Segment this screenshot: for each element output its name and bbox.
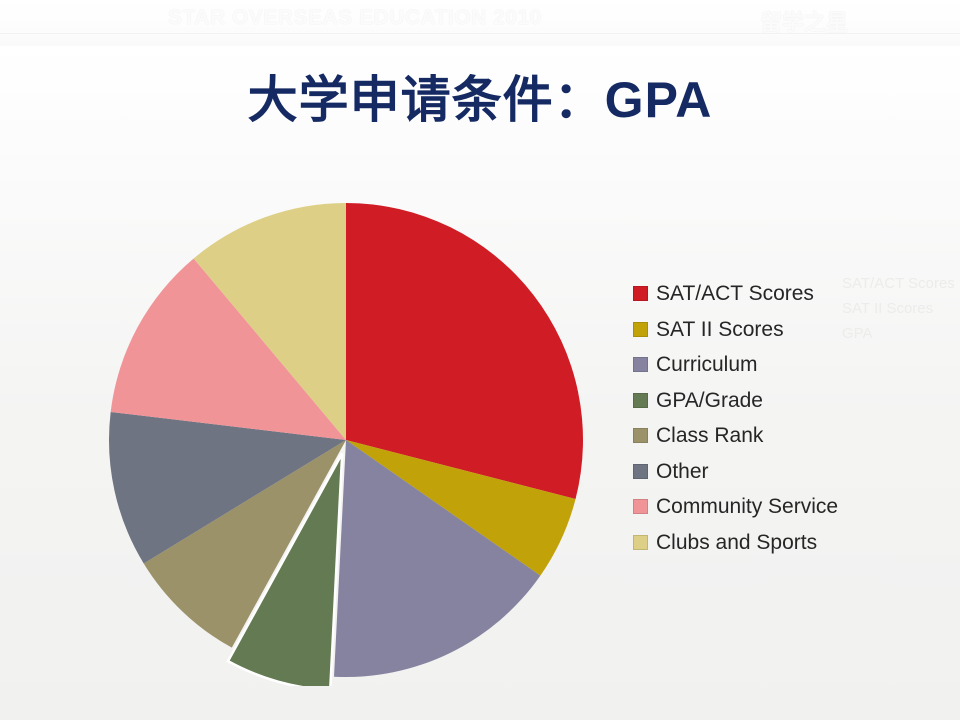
legend-item-curriculum[interactable]: Curriculum	[633, 347, 913, 383]
legend-label-gpa-grade: GPA/Grade	[656, 390, 763, 411]
ghost-text-line-1: SAT/ACT Scores	[842, 275, 955, 292]
page-title-chinese: 大学申请条件：	[248, 72, 605, 128]
ghost-text-line-2: SAT II Scores	[842, 300, 933, 317]
legend-swatch-class-rank	[633, 428, 648, 443]
legend-item-clubs-and-sports[interactable]: Clubs and Sports	[633, 525, 913, 561]
pie-chart: SAT/ACT Scores SAT II Scores Curriculum …	[20, 150, 940, 710]
page-title-latin: GPA	[605, 72, 713, 128]
legend-swatch-curriculum	[633, 357, 648, 372]
page-title: 大学申请条件：GPA	[0, 60, 960, 132]
legend-label-other: Other	[656, 461, 709, 482]
legend-label-class-rank: Class Rank	[656, 425, 763, 446]
legend-swatch-other	[633, 464, 648, 479]
banner-title-chinese: 留学之星	[760, 5, 848, 37]
legend-item-other[interactable]: Other	[633, 454, 913, 490]
legend-label-sat-act-scores: SAT/ACT Scores	[656, 283, 814, 304]
pie-svg	[89, 166, 609, 686]
ghost-text-line-3: GPA	[842, 325, 873, 342]
legend-item-class-rank[interactable]: Class Rank	[633, 418, 913, 454]
top-banner: STAR OVERSEAS EDUCATION 2010 留学之星	[0, 0, 960, 46]
legend-label-community-service: Community Service	[656, 496, 838, 517]
chart-legend: SAT/ACT Scores SAT II Scores Curriculum …	[633, 276, 913, 560]
banner-title: STAR OVERSEAS EDUCATION 2010	[168, 6, 542, 30]
legend-swatch-gpa-grade	[633, 393, 648, 408]
legend-item-gpa-grade[interactable]: GPA/Grade	[633, 383, 913, 419]
pie-canvas	[89, 166, 609, 686]
legend-swatch-clubs-and-sports	[633, 535, 648, 550]
legend-item-community-service[interactable]: Community Service	[633, 489, 913, 525]
legend-swatch-sat-act-scores	[633, 286, 648, 301]
legend-label-clubs-and-sports: Clubs and Sports	[656, 532, 817, 553]
legend-label-sat-ii-scores: SAT II Scores	[656, 319, 784, 340]
legend-swatch-sat-ii-scores	[633, 322, 648, 337]
legend-swatch-community-service	[633, 499, 648, 514]
legend-label-curriculum: Curriculum	[656, 354, 758, 375]
